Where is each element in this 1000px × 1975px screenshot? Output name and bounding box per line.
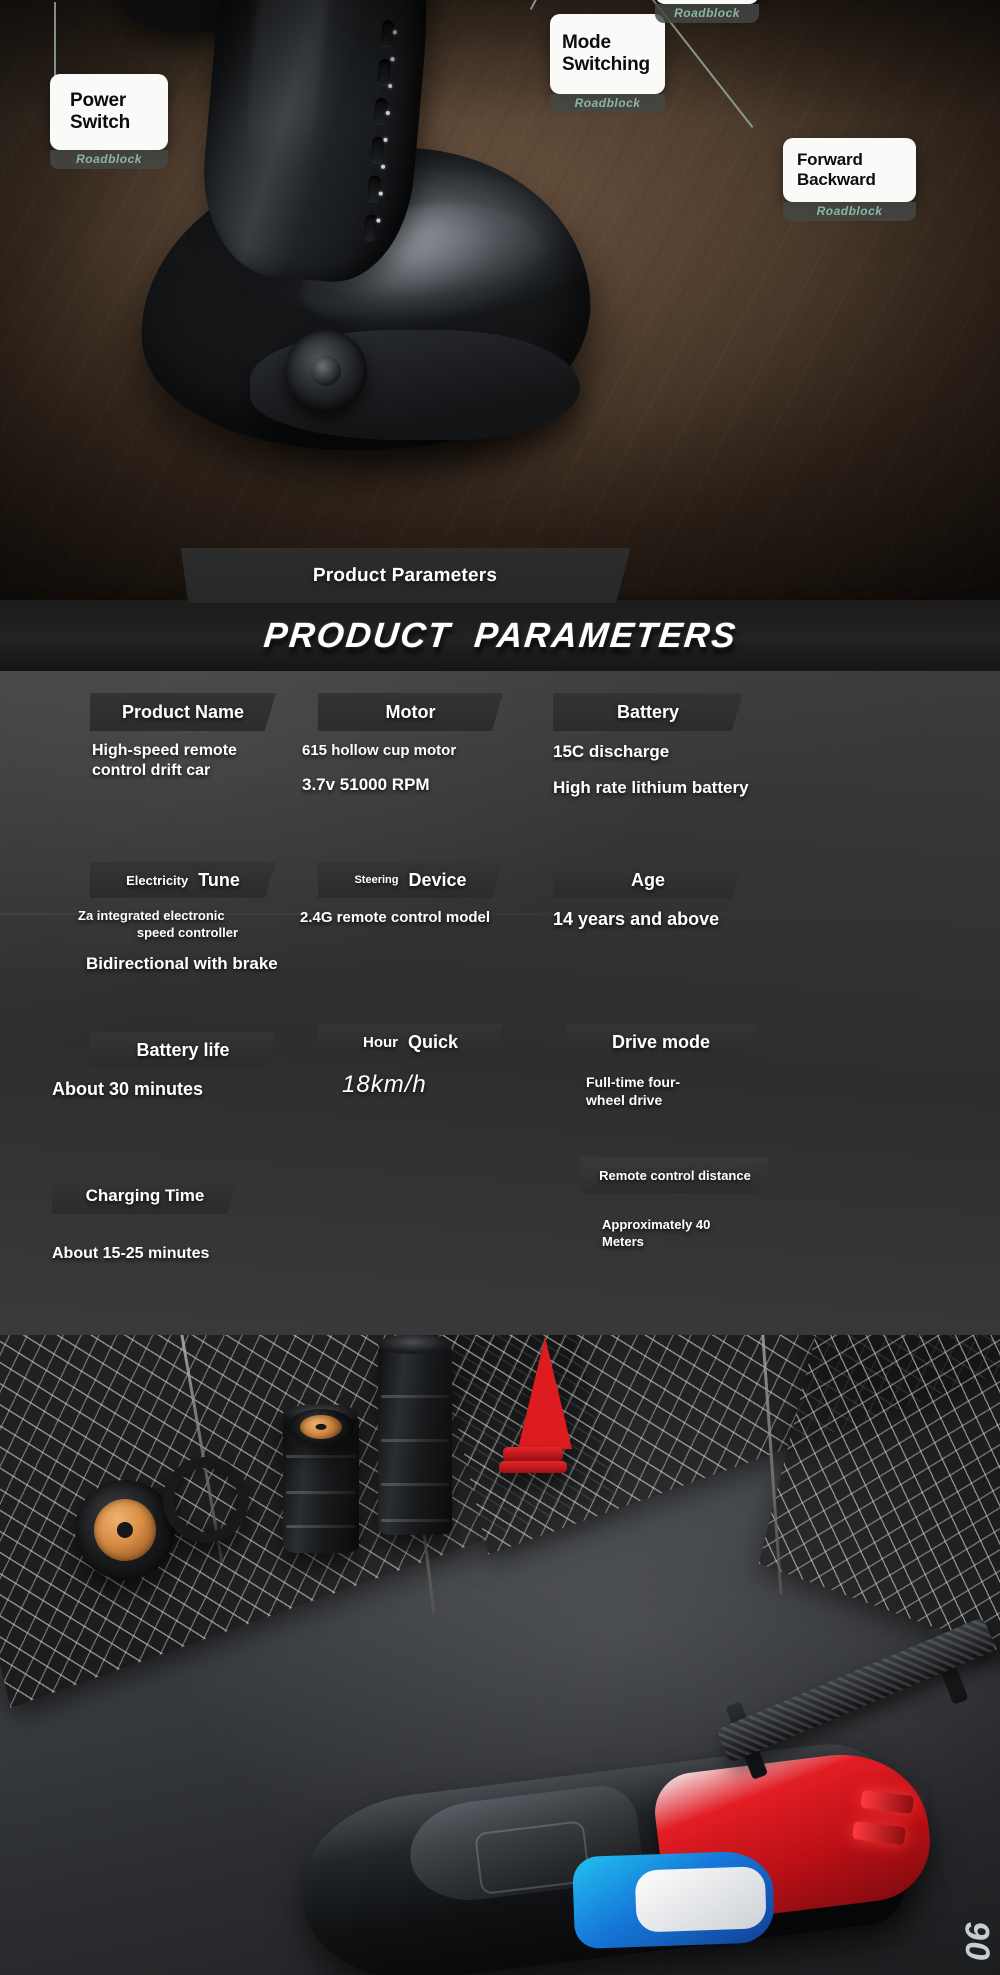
spec-value: speed controller [78,925,238,942]
spec-hour-quick: Hour Quick 18km/h [300,1024,580,1101]
car-number: 06 [959,1921,999,1962]
spec-product-name-values: High-speed remote control drift car [92,741,312,782]
spec-hour-quick-sublabel: Hour [363,1034,398,1051]
traffic-cone-base-2 [499,1461,567,1473]
spec-age-label: Age [631,870,665,891]
spec-battery-life-values: About 30 minutes [52,1078,332,1101]
leader-line-power-switch [54,2,56,76]
spec-product-name-label: Product Name [122,702,244,723]
callout-power-switch-tag: Roadblock [50,150,168,169]
spec-battery-life-label: Battery life [136,1040,229,1061]
spare-wheel-front [75,1480,175,1580]
spec-value: Bidirectional with brake [86,953,332,975]
callout-forward-backward-tag: Roadblock [783,202,916,221]
tire-ring [163,1457,249,1543]
spec-electricity-tune-plate: Electricity Tune [90,862,276,898]
spec-age-plate: Age [553,862,743,898]
wheel-hub [94,1499,156,1561]
spec-electricity-tune-label: Tune [198,870,240,891]
spec-battery-plate: Battery [553,693,743,731]
spec-drive-mode: Drive mode Full-time four- wheel drive [548,1024,848,1110]
callout-top-right-tag: Roadblock [655,4,759,23]
tire-stack-tall-top [378,1335,452,1354]
spec-steering-device-plate: Steering Device [318,862,503,898]
spec-remote-distance-label: Remote control distance [599,1168,751,1183]
spec-value: High rate lithium battery [553,777,865,799]
spec-charging-time-values: About 15-25 minutes [52,1244,332,1264]
spec-hour-quick-values: 18km/h [342,1070,580,1101]
traffic-cone [518,1337,572,1449]
spec-drive-mode-plate: Drive mode [566,1024,756,1060]
tire-stack-short-hub [288,1409,354,1445]
spec-age: Age 14 years and above [535,862,835,931]
callout-forward-backward-label: ForwardBackward [797,150,876,189]
spec-motor: Motor 615 hollow cup motor 3.7v 51000 RP… [300,693,570,796]
spec-charging-time: Charging Time About 15-25 minutes [52,1178,332,1264]
spec-value: 3.7v 51000 RPM [302,774,570,796]
callout-mode-switching-card: ModeSwitching [550,14,665,94]
spec-value: Meters [602,1234,910,1251]
spec-battery-life: Battery life About 30 minutes [52,1032,332,1101]
callout-mode-switching[interactable]: ModeSwitching Roadblock [550,14,665,113]
spec-product-name-plate: Product Name [90,693,276,731]
spec-charging-time-label: Charging Time [86,1186,205,1206]
car-livery-white [635,1866,767,1932]
callout-power-switch-card: PowerSwitch [50,74,168,150]
spec-value: 18km/h [342,1070,580,1101]
callout-power-switch[interactable]: PowerSwitch Roadblock [50,74,168,169]
spec-electricity-tune: Electricity Tune Za integrated electroni… [52,862,332,975]
parameters-subheader-label: Product Parameters [313,565,498,587]
bottom-product-scene: 06 [0,1335,1000,1975]
spec-value: 14 years and above [553,908,835,931]
spec-motor-label: Motor [386,702,436,723]
spec-remote-distance: Remote control distance Approximately 40… [580,1157,910,1250]
spec-value: Approximately 40 [602,1217,910,1234]
spec-charging-time-plate: Charging Time [52,1178,238,1214]
callout-power-switch-label: PowerSwitch [70,90,130,134]
spec-value: High-speed remote [92,741,312,761]
spec-value: About 15-25 minutes [52,1244,332,1264]
spec-steering-device-label: Device [408,870,466,891]
product-detail-page: PowerSwitch Roadblock ModeSwitching Road… [0,0,1000,1975]
callout-forward-backward-card: ForwardBackward [783,138,916,202]
hero-controller-photo: PowerSwitch Roadblock ModeSwitching Road… [0,0,1000,600]
traffic-cone-base [503,1447,563,1461]
section-title-band: PRODUCT PARAMETERS [0,600,1000,671]
spec-value: 15C discharge [553,741,865,763]
spec-steering-device-sublabel: Steering [354,874,398,886]
callout-top-right[interactable]: Roadblock [655,0,759,23]
callout-mode-switching-label: ModeSwitching [562,32,650,76]
spec-battery: Battery 15C discharge High rate lithium … [535,693,865,799]
spec-hour-quick-label: Quick [408,1032,458,1053]
spec-value: control drift car [92,761,312,781]
spec-electricity-tune-values: Za integrated electronic speed controlle… [78,908,332,975]
spec-electricity-tune-sublabel: Electricity [126,873,188,888]
page-title: PRODUCT PARAMETERS [261,616,738,656]
spec-motor-plate: Motor [318,693,503,731]
callout-mode-switching-tag: Roadblock [550,94,665,113]
spec-battery-life-plate: Battery life [90,1032,276,1068]
spec-value: Za integrated electronic [78,908,332,925]
callout-forward-backward[interactable]: ForwardBackward Roadblock [783,138,916,221]
tire-stack-tall [378,1343,452,1535]
spec-product-name: Product Name High-speed remote control d… [52,693,312,782]
spec-value: 615 hollow cup motor [302,741,570,760]
spec-hour-quick-plate: Hour Quick [318,1024,503,1060]
spec-motor-values: 615 hollow cup motor 3.7v 51000 RPM [302,741,570,796]
spec-value: About 30 minutes [52,1078,332,1101]
spec-age-values: 14 years and above [553,908,835,931]
spec-drive-mode-values: Full-time four- wheel drive [586,1074,848,1110]
spec-remote-distance-plate: Remote control distance [580,1157,770,1193]
spec-value: Full-time four- [586,1074,848,1092]
spec-remote-distance-values: Approximately 40 Meters [602,1217,910,1250]
parameters-subheader-plate: Product Parameters [179,548,630,603]
spec-battery-label: Battery [617,702,679,723]
spec-battery-values: 15C discharge High rate lithium battery [553,741,865,799]
spec-drive-mode-label: Drive mode [612,1032,710,1053]
wheel-hub [300,1415,342,1439]
spec-value: wheel drive [586,1092,848,1110]
